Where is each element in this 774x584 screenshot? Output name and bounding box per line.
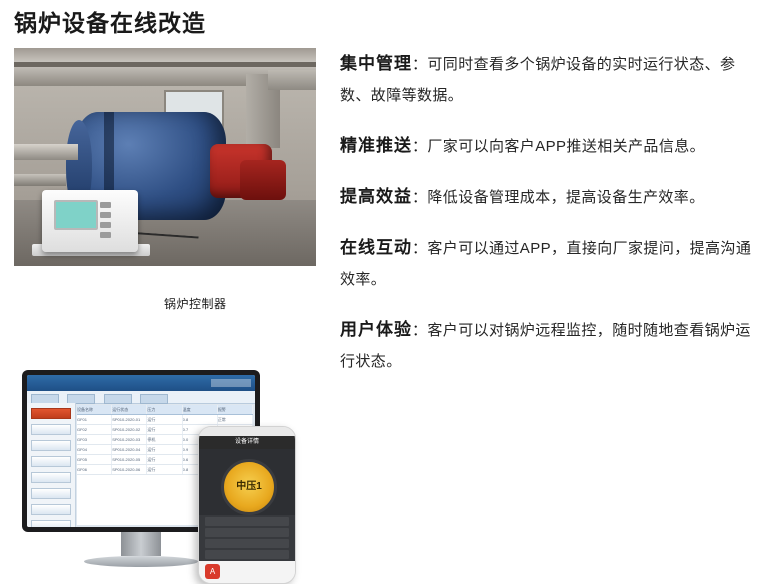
photo-pipe-lower	[14, 174, 66, 186]
feature-title: 精准推送	[340, 136, 412, 155]
page-title: 锅炉设备在线改造	[14, 8, 206, 38]
feature-body: 降低设备管理成本，提高设备生产效率。	[427, 189, 704, 206]
table-cell: SP010-2020-04	[112, 445, 147, 454]
sidebar-item-monitor	[31, 424, 71, 435]
table-cell: GF04	[77, 445, 112, 454]
sidebar-item-users	[31, 488, 71, 499]
monitor-base	[84, 556, 198, 567]
pressure-gauge: 中压1	[221, 459, 277, 515]
table-cell: 运行	[147, 465, 182, 474]
feature-colon: ：	[412, 322, 427, 339]
feature-item-precise-push: 精准推送：厂家可以向客户APP推送相关产品信息。	[340, 130, 764, 162]
phone-footer-bar: A	[199, 561, 295, 583]
table-cell: SP010-2020-03	[112, 435, 147, 444]
table-cell: SP010-2020-01	[112, 415, 147, 424]
table-cell: SP010-2020-02	[112, 425, 147, 434]
feature-body: 厂家可以向客户APP推送相关产品信息。	[427, 138, 705, 155]
phone-status-bar	[199, 427, 295, 436]
feature-colon: ：	[412, 189, 427, 206]
boiler-room-photo	[14, 48, 316, 266]
feature-title: 提高效益	[340, 187, 412, 206]
feature-item-user-experience: 用户体验：客户可以对锅炉远程监控，随时随地查看锅炉运行状态。	[340, 314, 764, 377]
software-tab	[140, 394, 168, 404]
monitor-neck	[121, 532, 161, 556]
table-cell: 运行	[147, 415, 182, 424]
sidebar-item-history	[31, 440, 71, 451]
software-sidebar	[27, 403, 76, 527]
feature-item-online-interaction: 在线互动：客户可以通过APP，直接向厂家提问，提高沟通效率。	[340, 232, 764, 295]
photo-duct-top	[268, 70, 316, 90]
mobile-phone: 设备详情 中压1 A	[198, 426, 296, 584]
table-cell: GF01	[77, 415, 112, 424]
table-cell: 运行	[147, 455, 182, 464]
software-tab	[104, 394, 132, 404]
sidebar-item-alarms	[31, 456, 71, 467]
table-row: GF01 SP010-2020-01 运行 0.8 正常	[77, 415, 253, 425]
controller-buttons	[100, 202, 128, 226]
software-header-bar	[27, 375, 255, 391]
feature-title: 在线互动	[340, 238, 412, 257]
list-item	[205, 528, 289, 537]
table-cell: GF03	[77, 435, 112, 444]
controller-screen	[54, 200, 98, 230]
table-cell: 正常	[218, 415, 253, 424]
table-header-row: 设备名称 运行状态 压力 温度 报警	[77, 405, 253, 415]
sidebar-item-settings	[31, 472, 71, 483]
sidebar-item-overview	[31, 408, 71, 419]
table-cell: SP010-2020-06	[112, 465, 147, 474]
monitor-and-phone-photo: 设备名称 运行状态 压力 温度 报警 GF01 SP010-2020-01 运行…	[22, 370, 320, 582]
table-cell: GF05	[77, 455, 112, 464]
controller-button	[100, 232, 111, 238]
feature-colon: ：	[412, 240, 427, 257]
table-cell: GF06	[77, 465, 112, 474]
phone-nav-title: 设备详情	[199, 436, 295, 449]
feature-title: 用户体验	[340, 320, 412, 339]
controller-button	[100, 222, 111, 228]
left-column: 锅炉控制器	[14, 48, 316, 266]
photo-red-burner-secondary	[240, 160, 286, 200]
sidebar-item-extra	[31, 520, 71, 527]
list-item	[205, 539, 289, 548]
controller-button	[100, 212, 111, 218]
table-cell: 停机	[147, 435, 182, 444]
page-root: 锅炉设备在线改造	[0, 0, 774, 535]
phone-content: 中压1	[199, 449, 295, 561]
table-header-cell: 设备名称	[77, 405, 112, 414]
table-header-cell: 报警	[218, 405, 253, 414]
feature-colon: ：	[412, 138, 427, 155]
table-cell: 0.8	[183, 415, 218, 424]
feature-colon: ：	[412, 56, 427, 73]
list-item	[205, 517, 289, 526]
table-header-cell: 运行状态	[112, 405, 147, 414]
table-cell: SP010-2020-05	[112, 455, 147, 464]
table-cell: GF02	[77, 425, 112, 434]
table-cell: 运行	[147, 445, 182, 454]
photo-caption: 锅炉控制器	[164, 295, 227, 312]
feature-item-improve-efficiency: 提高效益：降低设备管理成本，提高设备生产效率。	[340, 181, 764, 213]
photo-pipe-upper	[14, 144, 78, 160]
sidebar-item-extra	[31, 504, 71, 515]
feature-item-centralized-management: 集中管理：可同时查看多个锅炉设备的实时运行状态、参数、故障等数据。	[340, 48, 764, 111]
table-cell: 运行	[147, 425, 182, 434]
list-item	[205, 550, 289, 559]
app-icon: A	[205, 564, 220, 579]
photo-controller-device	[42, 190, 138, 252]
feature-title: 集中管理	[340, 54, 412, 73]
table-header-cell: 压力	[147, 405, 182, 414]
phone-data-list	[199, 515, 295, 561]
feature-list: 集中管理：可同时查看多个锅炉设备的实时运行状态、参数、故障等数据。 精准推送：厂…	[340, 48, 764, 396]
controller-button	[100, 202, 111, 208]
table-header-cell: 温度	[183, 405, 218, 414]
